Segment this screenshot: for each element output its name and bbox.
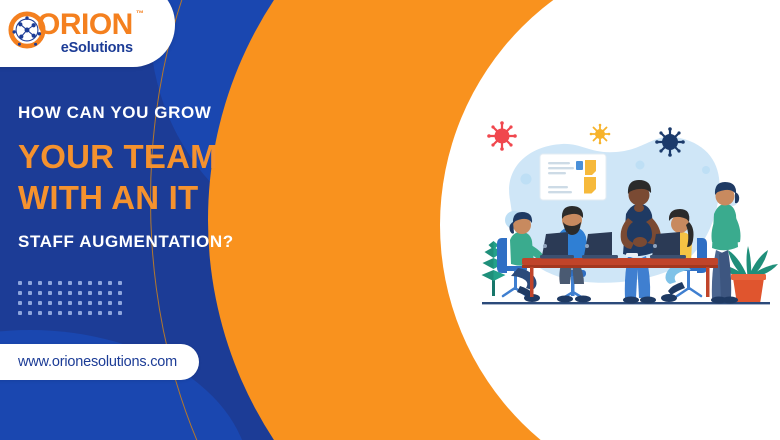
grid-dot [88, 291, 92, 295]
headline-block: HOW CAN YOU GROW YOUR TEAM WITH AN IT ST… [18, 100, 234, 255]
grid-dot [108, 301, 112, 305]
grid-dot [88, 301, 92, 305]
grid-dot [48, 291, 52, 295]
grid-dot [18, 281, 22, 285]
trademark-symbol: ™ [136, 9, 144, 18]
grid-dot [48, 311, 52, 315]
grid-dot [38, 301, 42, 305]
grid-dot [108, 281, 112, 285]
logo-pill[interactable]: ORION ™ eSolutions [0, 0, 175, 67]
grid-dot [98, 291, 102, 295]
headline-line-1: HOW CAN YOU GROW [18, 100, 234, 126]
grid-dot [18, 291, 22, 295]
grid-dot [78, 281, 82, 285]
virus-motif-yellow [590, 124, 611, 145]
grid-dot [18, 311, 22, 315]
website-url-text: www.orionesolutions.com [18, 354, 177, 370]
grid-dot [28, 311, 32, 315]
grid-dot [58, 281, 62, 285]
grid-dot [38, 281, 42, 285]
grid-dot [48, 301, 52, 305]
grid-dot [38, 311, 42, 315]
logo-wordmark: ORION ™ eSolutions [37, 10, 133, 56]
grid-dot [98, 301, 102, 305]
grid-dot [48, 281, 52, 285]
grid-dot [118, 301, 122, 305]
grid-dot [18, 301, 22, 305]
grid-dot [58, 291, 62, 295]
grid-dot [38, 291, 42, 295]
grid-dot [58, 311, 62, 315]
grid-dot [68, 291, 72, 295]
grid-dot [78, 301, 82, 305]
grid-dot [28, 291, 32, 295]
virus-motif-red [487, 121, 517, 151]
grid-dot [68, 311, 72, 315]
logo-word: ORION [37, 10, 133, 40]
grid-dot [118, 311, 122, 315]
grid-dot [58, 301, 62, 305]
grid-dot [68, 281, 72, 285]
logo-subtitle: eSolutions [37, 41, 133, 56]
grid-dot [78, 311, 82, 315]
headline-line-2: YOUR TEAM [18, 136, 234, 177]
grid-dot [98, 281, 102, 285]
presentation-board [540, 154, 606, 200]
grid-dot [78, 291, 82, 295]
logo: ORION ™ eSolutions [0, 0, 133, 56]
grid-dot [118, 291, 122, 295]
grid-dot [88, 281, 92, 285]
headline-line-3: WITH AN IT [18, 177, 234, 218]
decorative-dot-grid [18, 281, 128, 321]
grid-dot [88, 311, 92, 315]
marketing-banner: ORION ™ eSolutions HOW CAN YOU GROW YOUR… [0, 0, 780, 440]
headline-line-4: STAFF AUGMENTATION? [18, 229, 234, 255]
grid-dot [108, 291, 112, 295]
website-url-pill[interactable]: www.orionesolutions.com [0, 344, 199, 380]
grid-dot [28, 301, 32, 305]
grid-dot [98, 311, 102, 315]
grid-dot [108, 311, 112, 315]
grid-dot [118, 281, 122, 285]
team-meeting-illustration [470, 110, 780, 335]
grid-dot [68, 301, 72, 305]
grid-dot [28, 281, 32, 285]
sticky-note-blue [576, 161, 583, 170]
